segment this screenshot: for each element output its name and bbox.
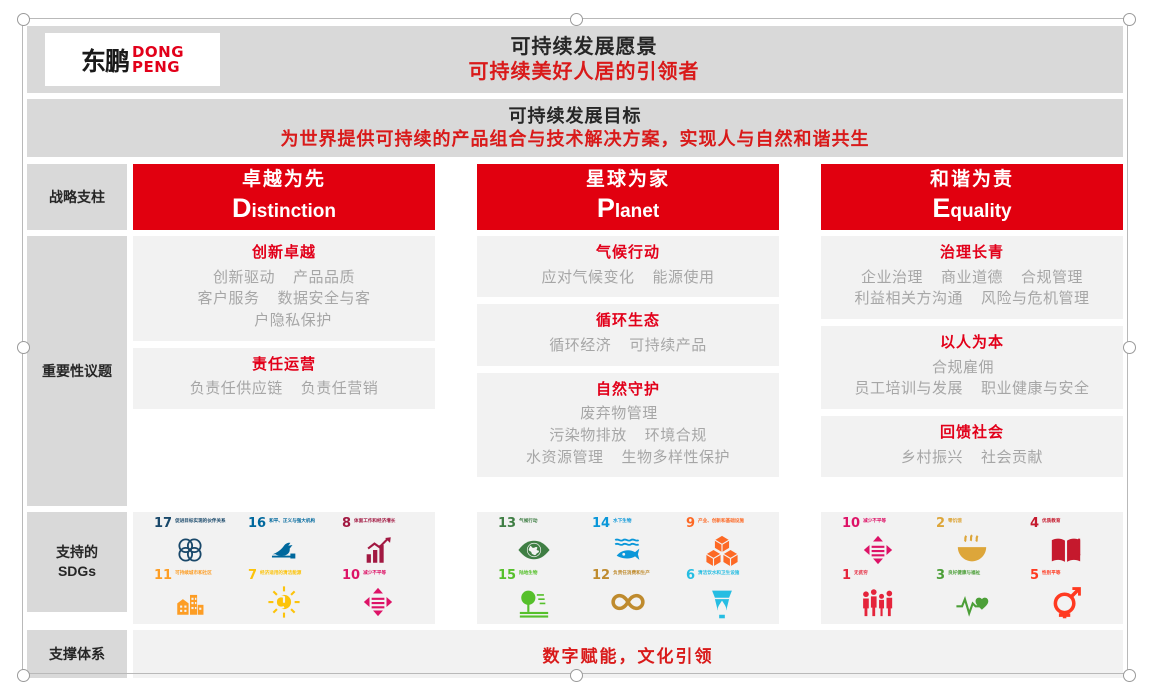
topic-box-title: 以人为本 (829, 333, 1115, 353)
sidebar-sdg-line1: 支持的 (56, 544, 98, 560)
topic-line: 污染物排放环境合规 (485, 425, 771, 447)
sidebar-label-sdgs: 支持的 SDGs (27, 512, 127, 612)
sdg-title: 气候行动 (519, 517, 537, 524)
sdg-tile-4[interactable]: 4优质教育 (1030, 517, 1102, 567)
topic-box-title: 创新卓越 (141, 243, 427, 263)
goal-title: 可持续发展目标 (509, 105, 642, 128)
topic-item: 员工培训与发展 (854, 380, 963, 397)
topic-line: 水资源管理生物多样性保护 (485, 447, 771, 469)
support-band: 支撑体系 数字赋能，文化引领 (27, 630, 1123, 678)
topic-item: 职业健康与安全 (981, 380, 1090, 397)
sdg-tile-17[interactable]: 17促进目标实现的伙伴关系 (154, 517, 226, 567)
pillar-word-rest: lanet (615, 201, 659, 222)
sdg-number: 16 (248, 517, 266, 530)
sdg-title: 优质教育 (1042, 517, 1060, 524)
book-icon (1030, 533, 1102, 567)
sdg-number: 13 (498, 517, 516, 530)
sdg-label: 10减少不平等 (842, 517, 914, 533)
sdg-label: 6清洁饮水和卫生设施 (686, 569, 758, 585)
topic-item: 创新驱动 (213, 269, 275, 286)
topic-item: 合规雇佣 (932, 359, 994, 376)
sdg-tile-2[interactable]: 2零饥饿 (936, 517, 1008, 567)
city-icon (154, 585, 226, 619)
topic-item: 企业治理 (861, 269, 923, 286)
sdg-label: 13气候行动 (498, 517, 570, 533)
pillar-column-3: 和谐为责Equality (821, 164, 1123, 230)
topic-line: 员工培训与发展职业健康与安全 (829, 378, 1115, 400)
peace-dove-icon (248, 533, 320, 567)
sdg-grid: 10减少不平等2零饥饿4优质教育1无贫穷3良好健康与福祉5性别平等 (831, 517, 1113, 619)
topic-box[interactable]: 回馈社会乡村振兴社会贡献 (821, 416, 1123, 477)
vision-title: 可持续发展愿景 (511, 35, 658, 60)
topic-item: 环境合规 (645, 427, 707, 444)
sdg-tile-10[interactable]: 10减少不平等 (842, 517, 914, 567)
sdg-title: 清洁饮水和卫生设施 (698, 569, 739, 576)
sdg-tile-7[interactable]: 7经济适用的清洁能源 (248, 569, 320, 619)
sdg-title: 减少不平等 (363, 569, 386, 576)
fish-icon (592, 533, 664, 567)
sdg-number: 8 (342, 517, 351, 530)
sdg-label: 12负责任消费和生产 (592, 569, 664, 585)
sdg-label: 1无贫穷 (842, 569, 914, 585)
pillar-chinese-label: 和谐为责 (930, 169, 1014, 192)
topics-column-1: 创新卓越创新驱动产品品质客户服务数据安全与客户隐私保护责任运营负责任供应链负责任… (133, 236, 435, 506)
sdg-label: 4优质教育 (1030, 517, 1102, 533)
goal-subtitle: 为世界提供可持续的产品组合与技术解决方案，实现人与自然和谐共生 (281, 128, 870, 151)
vision-band: 东鹏 DONG PENG 可持续发展愿景 可持续美好人居的引领者 (27, 26, 1123, 93)
topic-item: 数据安全与客 (278, 290, 371, 307)
topic-box-title: 治理长青 (829, 243, 1115, 263)
sdg-number: 10 (342, 569, 360, 582)
topic-item: 循环经济 (549, 337, 611, 354)
pillar-english-label: Planet (597, 192, 659, 226)
sdg-title: 减少不平等 (863, 517, 886, 524)
topic-box[interactable]: 责任运营负责任供应链负责任营销 (133, 348, 435, 409)
partnership-icon (154, 533, 226, 567)
goal-band: 可持续发展目标 为世界提供可持续的产品组合与技术解决方案，实现人与自然和谐共生 (27, 99, 1123, 157)
topic-box-title: 气候行动 (485, 243, 771, 263)
sdg-tile-9[interactable]: 9产业、创新和基础设施 (686, 517, 758, 567)
pillar-chinese-label: 星球为家 (586, 169, 670, 192)
sun-power-icon (248, 585, 320, 619)
sdg-tile-8[interactable]: 8体面工作和经济增长 (342, 517, 414, 567)
topic-item: 废弃物管理 (580, 405, 658, 422)
pillar-english-label: Equality (932, 192, 1011, 226)
sdg-tile-12[interactable]: 12负责任消费和生产 (592, 569, 664, 619)
sdg-tile-3[interactable]: 3良好健康与福祉 (936, 569, 1008, 619)
sdg-title: 经济适用的清洁能源 (260, 569, 301, 576)
sdg-number: 3 (936, 569, 945, 582)
topic-item: 合规管理 (1021, 269, 1083, 286)
sdg-label: 14水下生物 (592, 517, 664, 533)
topic-item: 可持续产品 (629, 337, 707, 354)
sdg-title: 可持续城市和社区 (175, 569, 212, 576)
infinity-icon (592, 585, 664, 619)
material-topics-band: 重要性议题 创新卓越创新驱动产品品质客户服务数据安全与客户隐私保护责任运营负责任… (27, 236, 1123, 506)
sdg-label: 17促进目标实现的伙伴关系 (154, 517, 226, 533)
topic-item: 户隐私保护 (254, 312, 332, 329)
sdg-number: 14 (592, 517, 610, 530)
topic-line: 应对气候变化能源使用 (485, 267, 771, 289)
topic-item: 水资源管理 (526, 449, 604, 466)
material-topics-columns: 创新卓越创新驱动产品品质客户服务数据安全与客户隐私保护责任运营负责任供应链负责任… (133, 236, 1123, 506)
topic-line: 合规雇佣 (829, 357, 1115, 379)
sdg-tile-14[interactable]: 14水下生物 (592, 517, 664, 567)
support-content: 数字赋能，文化引领 (133, 630, 1123, 678)
heartbeat-icon (936, 585, 1008, 619)
pillar-word-rest: istinction (252, 201, 336, 222)
sdg-title: 水下生物 (613, 517, 631, 524)
sdg-label: 15陆地生物 (498, 569, 570, 585)
pillar-header-1[interactable]: 卓越为先Distinction (133, 164, 435, 230)
water-drop-icon (686, 585, 758, 619)
sdg-title: 负责任消费和生产 (613, 569, 650, 576)
pillar-initial: E (932, 193, 950, 223)
topic-box[interactable]: 以人为本合规雇佣员工培训与发展职业健康与安全 (821, 326, 1123, 409)
sdg-label: 16和平、正义与强大机构 (248, 517, 320, 533)
support-text: 数字赋能，文化引领 (543, 642, 714, 667)
topic-item: 乡村振兴 (901, 449, 963, 466)
framework-grid: 战略支柱 卓越为先Distinction星球为家Planet和谐为责Equali… (27, 164, 1123, 678)
sidebar-label-support: 支撑体系 (27, 630, 127, 678)
topic-item: 污染物排放 (549, 427, 627, 444)
sdg-title: 性别平等 (1042, 569, 1060, 576)
topic-box-title: 自然守护 (485, 380, 771, 400)
pillars-columns: 卓越为先Distinction星球为家Planet和谐为责Equality (133, 164, 1123, 230)
pillar-column-2: 星球为家Planet (477, 164, 779, 230)
pillar-header-2[interactable]: 星球为家Planet (477, 164, 779, 230)
topic-item: 产品品质 (293, 269, 355, 286)
topic-box[interactable]: 自然守护废弃物管理污染物排放环境合规水资源管理生物多样性保护 (477, 373, 779, 478)
sdg-number: 4 (1030, 517, 1039, 530)
topic-box[interactable]: 气候行动应对气候变化能源使用 (477, 236, 779, 297)
vision-text-group: 可持续发展愿景 可持续美好人居的引领者 (45, 26, 1123, 93)
sdg-grid: 13气候行动14水下生物9产业、创新和基础设施15陆地生物12负责任消费和生产6… (487, 517, 769, 619)
topic-item: 客户服务 (197, 290, 259, 307)
sdg-title: 陆地生物 (519, 569, 537, 576)
pillar-column-1: 卓越为先Distinction (133, 164, 435, 230)
sdg-title: 无贫穷 (854, 569, 868, 576)
pillar-word-rest: quality (950, 201, 1011, 222)
sdg-title: 促进目标实现的伙伴关系 (175, 517, 226, 524)
industry-cubes-icon (686, 533, 758, 567)
growth-chart-icon (342, 533, 414, 567)
gender-equality-icon (1030, 585, 1102, 619)
sdg-title: 和平、正义与强大机构 (269, 517, 315, 524)
sdg-tile-6[interactable]: 6清洁饮水和卫生设施 (686, 569, 758, 619)
sdg-number: 12 (592, 569, 610, 582)
sdg-band: 支持的 SDGs 17促进目标实现的伙伴关系16和平、正义与强大机构8体面工作和… (27, 512, 1123, 624)
topic-line: 乡村振兴社会贡献 (829, 447, 1115, 469)
family-icon (842, 585, 914, 619)
topic-box[interactable]: 创新卓越创新驱动产品品质客户服务数据安全与客户隐私保护 (133, 236, 435, 341)
sdg-number: 10 (842, 517, 860, 530)
climate-eye-icon (498, 533, 570, 567)
sdg-tile-15[interactable]: 15陆地生物 (498, 569, 570, 619)
sidebar-label-material-topics: 重要性议题 (27, 236, 127, 506)
topic-box-title: 责任运营 (141, 355, 427, 375)
sdg-label: 11可持续城市和社区 (154, 569, 226, 585)
sdg-group-3: 10减少不平等2零饥饿4优质教育1无贫穷3良好健康与福祉5性别平等 (821, 512, 1123, 624)
sdg-title: 零饥饿 (948, 517, 962, 524)
sdg-title: 体面工作和经济增长 (354, 517, 395, 524)
sdg-tile-1[interactable]: 1无贫穷 (842, 569, 914, 619)
topic-item: 社会贡献 (981, 449, 1043, 466)
topic-line: 客户服务数据安全与客 (141, 288, 427, 310)
sdg-columns: 17促进目标实现的伙伴关系16和平、正义与强大机构8体面工作和经济增长11可持续… (133, 512, 1123, 624)
pillar-english-label: Distinction (232, 192, 336, 226)
sdg-tile-13[interactable]: 13气候行动 (498, 517, 570, 567)
equality-arrows-icon (342, 585, 414, 619)
pillar-initial: D (232, 193, 252, 223)
sidebar-sdg-line2: SDGs (58, 563, 96, 579)
sdg-label: 3良好健康与福祉 (936, 569, 1008, 585)
food-bowl-icon (936, 533, 1008, 567)
topic-line: 负责任供应链负责任营销 (141, 378, 427, 400)
topic-item: 商业道德 (941, 269, 1003, 286)
sdg-number: 5 (1030, 569, 1039, 582)
sdg-grid: 17促进目标实现的伙伴关系16和平、正义与强大机构8体面工作和经济增长11可持续… (143, 517, 425, 619)
topic-item: 负责任营销 (301, 380, 379, 397)
pillar-chinese-label: 卓越为先 (242, 169, 326, 192)
topics-column-2: 气候行动应对气候变化能源使用循环生态循环经济可持续产品自然守护废弃物管理污染物排… (477, 236, 779, 506)
sdg-tile-11[interactable]: 11可持续城市和社区 (154, 569, 226, 619)
equality-arrows-icon (842, 533, 914, 567)
sdg-group-1: 17促进目标实现的伙伴关系16和平、正义与强大机构8体面工作和经济增长11可持续… (133, 512, 435, 624)
pillar-initial: P (597, 193, 615, 223)
sdg-tile-10[interactable]: 10减少不平等 (342, 569, 414, 619)
vision-subtitle: 可持续美好人居的引领者 (469, 60, 700, 85)
topic-item: 风险与危机管理 (981, 290, 1090, 307)
topic-box-title: 回馈社会 (829, 423, 1115, 443)
topic-item: 生物多样性保护 (622, 449, 731, 466)
topic-line: 循环经济可持续产品 (485, 335, 771, 357)
sdg-number: 15 (498, 569, 516, 582)
sdg-number: 2 (936, 517, 945, 530)
topic-item: 负责任供应链 (190, 380, 283, 397)
sdg-number: 1 (842, 569, 851, 582)
sdg-tile-5[interactable]: 5性别平等 (1030, 569, 1102, 619)
sidebar-label-pillars: 战略支柱 (27, 164, 127, 230)
topic-box[interactable]: 治理长青企业治理商业道德合规管理利益相关方沟通风险与危机管理 (821, 236, 1123, 319)
topic-item: 利益相关方沟通 (854, 290, 963, 307)
topic-box-title: 循环生态 (485, 311, 771, 331)
tree-bird-icon (498, 585, 570, 619)
sdg-group-2: 13气候行动14水下生物9产业、创新和基础设施15陆地生物12负责任消费和生产6… (477, 512, 779, 624)
sdg-label: 7经济适用的清洁能源 (248, 569, 320, 585)
pillar-header-3[interactable]: 和谐为责Equality (821, 164, 1123, 230)
sdg-label: 2零饥饿 (936, 517, 1008, 533)
topic-box[interactable]: 循环生态循环经济可持续产品 (477, 304, 779, 365)
sdg-number: 17 (154, 517, 172, 530)
sdg-label: 8体面工作和经济增长 (342, 517, 414, 533)
topics-column-3: 治理长青企业治理商业道德合规管理利益相关方沟通风险与危机管理以人为本合规雇佣员工… (821, 236, 1123, 506)
topic-line: 利益相关方沟通风险与危机管理 (829, 288, 1115, 310)
topic-item: 能源使用 (653, 269, 715, 286)
sdg-number: 6 (686, 569, 695, 582)
sdg-label: 10减少不平等 (342, 569, 414, 585)
sdg-number: 7 (248, 569, 257, 582)
topic-line: 户隐私保护 (141, 310, 427, 332)
pillars-band: 战略支柱 卓越为先Distinction星球为家Planet和谐为责Equali… (27, 164, 1123, 230)
topic-line: 企业治理商业道德合规管理 (829, 267, 1115, 289)
slide-canvas[interactable]: 东鹏 DONG PENG 可持续发展愿景 可持续美好人居的引领者 可持续发展目标… (22, 18, 1128, 674)
sdg-title: 良好健康与福祉 (948, 569, 980, 576)
sdg-label: 9产业、创新和基础设施 (686, 517, 758, 533)
topic-line: 废弃物管理 (485, 403, 771, 425)
sdg-number: 9 (686, 517, 695, 530)
topic-line: 创新驱动产品品质 (141, 267, 427, 289)
sdg-tile-16[interactable]: 16和平、正义与强大机构 (248, 517, 320, 567)
sdg-number: 11 (154, 569, 172, 582)
topic-item: 应对气候变化 (541, 269, 634, 286)
sdg-title: 产业、创新和基础设施 (698, 517, 744, 524)
sdg-label: 5性别平等 (1030, 569, 1102, 585)
